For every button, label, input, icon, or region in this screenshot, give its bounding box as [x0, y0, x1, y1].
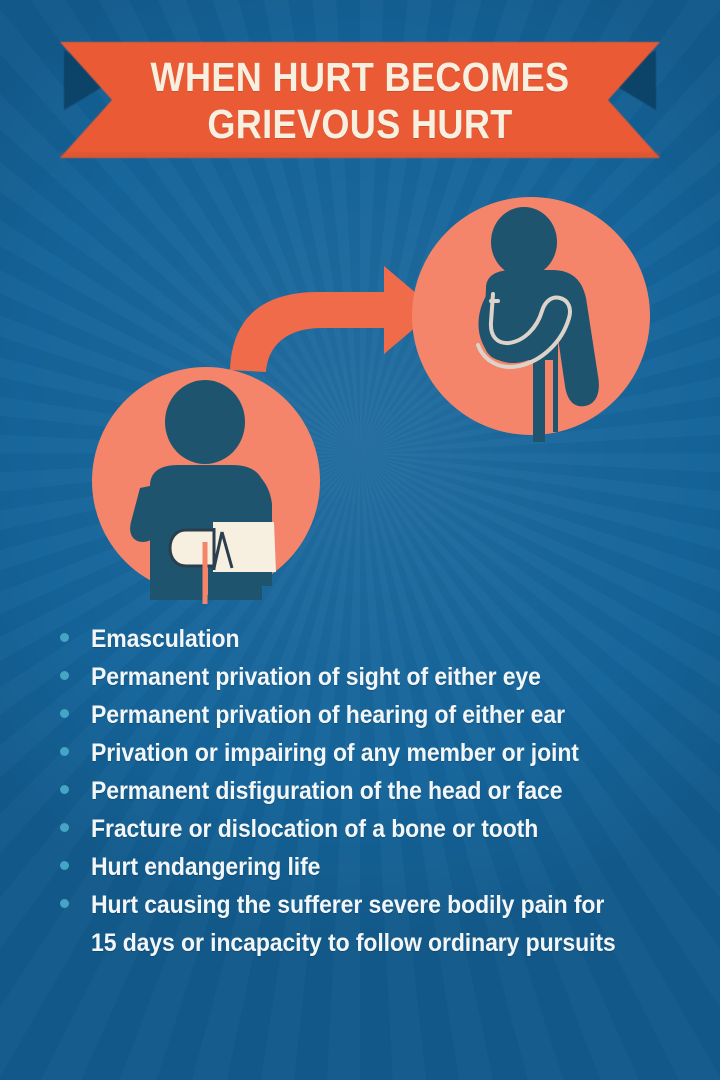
grievous-hurt-list: Emasculation Permanent privation of sigh…	[60, 620, 680, 962]
bullet-dot-icon	[60, 671, 69, 680]
title-line-2: GRIEVOUS HURT	[207, 101, 512, 148]
list-item: Hurt causing the sufferer severe bodily …	[60, 886, 680, 962]
list-item-label: Permanent privation of hearing of either…	[91, 696, 565, 734]
bullet-dot-icon	[60, 633, 69, 642]
bullet-dot-icon	[60, 709, 69, 718]
list-item: Hurt endangering life	[60, 848, 680, 886]
bullet-dot-icon	[60, 747, 69, 756]
list-item-label: Hurt endangering life	[91, 848, 320, 886]
list-item-label: Permanent privation of sight of either e…	[91, 658, 541, 696]
infographic-poster: WHEN HURT BECOMES GRIEVOUS HURT	[0, 0, 720, 1080]
title-text: WHEN HURT BECOMES GRIEVOUS HURT	[96, 42, 624, 160]
list-item: Fracture or dislocation of a bone or too…	[60, 810, 680, 848]
list-item-label: Privation or impairing of any member or …	[91, 734, 579, 772]
bullet-dot-icon	[60, 785, 69, 794]
list-item-label: Permanent disfiguration of the head or f…	[91, 772, 562, 810]
list-item: Permanent privation of hearing of either…	[60, 696, 680, 734]
list-item: Emasculation	[60, 620, 680, 658]
list-item: Permanent privation of sight of either e…	[60, 658, 680, 696]
left-scene-group	[92, 367, 320, 604]
curved-arrow-icon	[230, 266, 436, 372]
illustration-svg	[0, 170, 720, 610]
bullet-dot-icon	[60, 861, 69, 870]
bullet-dot-icon	[60, 899, 69, 908]
list-item-label: Emasculation	[91, 620, 239, 658]
title-banner: WHEN HURT BECOMES GRIEVOUS HURT	[60, 42, 660, 160]
list-item-label: Fracture or dislocation of a bone or too…	[91, 810, 538, 848]
list-item: Privation or impairing of any member or …	[60, 734, 680, 772]
list-item: Permanent disfiguration of the head or f…	[60, 772, 680, 810]
title-line-1: WHEN HURT BECOMES	[151, 54, 570, 101]
bullet-dot-icon	[60, 823, 69, 832]
illustration-area	[0, 170, 720, 610]
right-scene-group	[412, 197, 650, 442]
list-item-label: Hurt causing the sufferer severe bodily …	[91, 886, 616, 962]
